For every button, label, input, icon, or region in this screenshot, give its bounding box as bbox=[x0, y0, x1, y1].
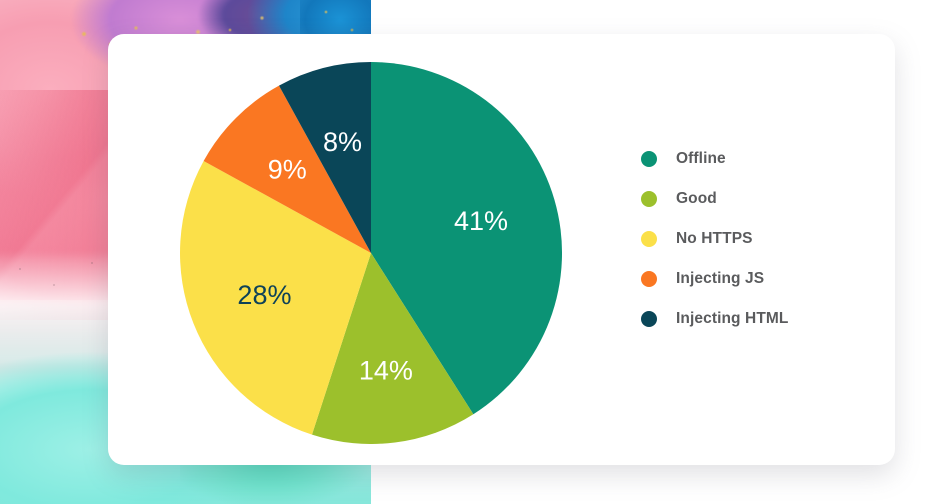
legend-item[interactable]: Good bbox=[641, 179, 861, 219]
legend-color-swatch-icon bbox=[641, 191, 657, 207]
legend-item[interactable]: Offline bbox=[641, 139, 861, 179]
legend-color-swatch-icon bbox=[641, 231, 657, 247]
legend-item-label: Injecting JS bbox=[676, 270, 764, 288]
legend-color-swatch-icon bbox=[641, 151, 657, 167]
pie-slice-value-label: 14% bbox=[359, 355, 413, 385]
legend-item-label: Good bbox=[676, 190, 717, 208]
chart-legend: OfflineGoodNo HTTPSInjecting JSInjecting… bbox=[641, 139, 861, 339]
pie-chart-svg: 41%14%28%9%8% bbox=[180, 62, 562, 444]
pie-slice-value-label: 41% bbox=[454, 206, 508, 236]
legend-item[interactable]: No HTTPS bbox=[641, 219, 861, 259]
pie-slice-group bbox=[180, 62, 562, 444]
screenshot-root: 41%14%28%9%8% OfflineGoodNo HTTPSInjecti… bbox=[0, 0, 933, 504]
pie-slice-value-label: 28% bbox=[237, 280, 291, 310]
legend-color-swatch-icon bbox=[641, 271, 657, 287]
pie-slice-value-label: 8% bbox=[323, 127, 362, 157]
legend-item[interactable]: Injecting JS bbox=[641, 259, 861, 299]
legend-item-label: No HTTPS bbox=[676, 230, 753, 248]
pie-slice-value-label: 9% bbox=[268, 154, 307, 184]
legend-item[interactable]: Injecting HTML bbox=[641, 299, 861, 339]
legend-item-label: Injecting HTML bbox=[676, 310, 788, 328]
legend-item-label: Offline bbox=[676, 150, 726, 168]
pie-chart: 41%14%28%9%8% bbox=[180, 62, 562, 444]
legend-color-swatch-icon bbox=[641, 311, 657, 327]
chart-card: 41%14%28%9%8% OfflineGoodNo HTTPSInjecti… bbox=[108, 34, 895, 465]
